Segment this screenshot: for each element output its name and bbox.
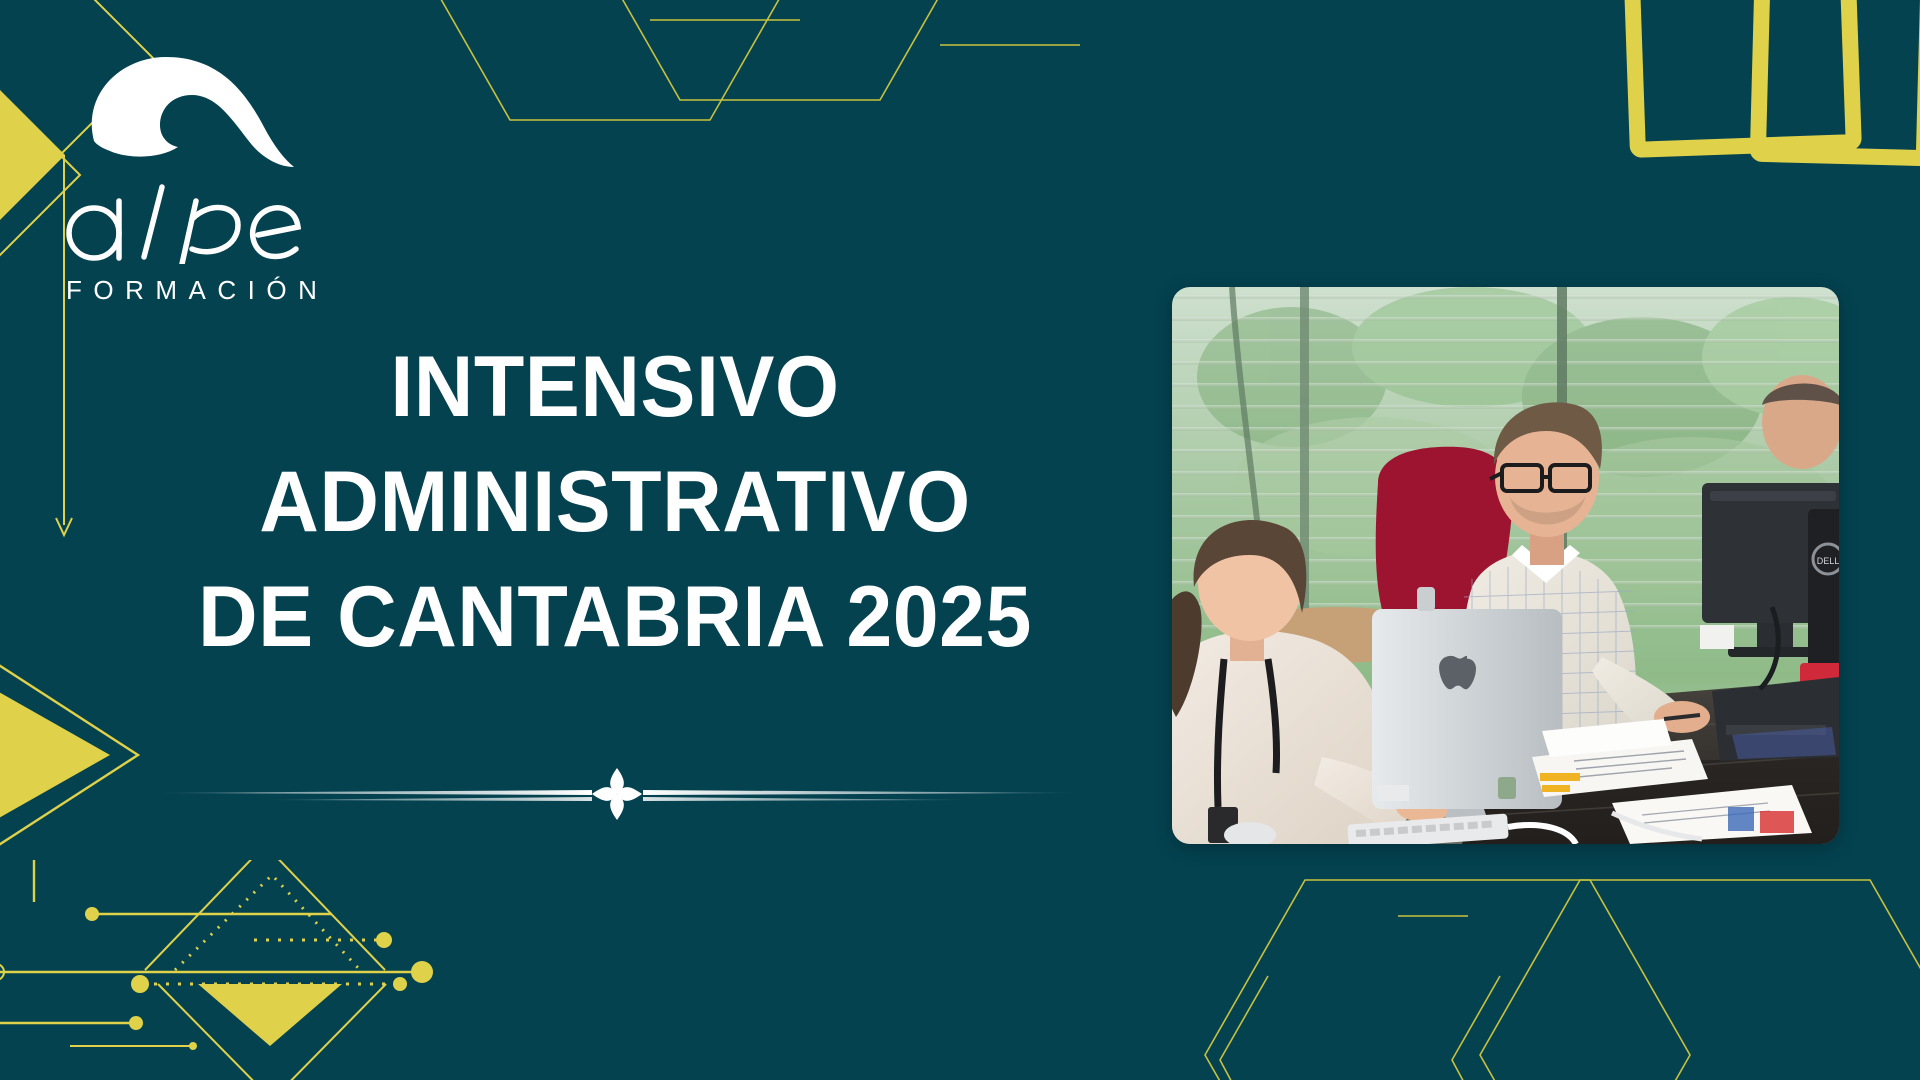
hexagon-outline-2 xyxy=(1480,880,1920,1080)
photo-illustration: DELL xyxy=(1172,287,1839,844)
chevron-line-2 xyxy=(1452,976,1500,1080)
divider-line-right-2 xyxy=(643,797,975,801)
apple-logo xyxy=(1439,656,1476,689)
filled-triangle xyxy=(0,670,110,840)
logo-wordmark xyxy=(60,179,305,264)
hero-photo: DELL xyxy=(1172,287,1839,844)
filled-diamond xyxy=(0,40,65,270)
dotted-triangle xyxy=(175,875,360,970)
logo-tagline: FORMACIÓN xyxy=(66,275,320,306)
divider-line-left xyxy=(150,790,592,795)
deco-bottom-right-hexagons xyxy=(1190,860,1920,1080)
banner-canvas: FORMACIÓN INTENSIVO ADMINISTRATIVO DE CA… xyxy=(0,0,1920,1080)
dot-dotted-end xyxy=(376,932,392,948)
deco-top-center-hexagons xyxy=(380,0,1080,250)
arrow-head xyxy=(56,518,72,535)
wave-swoosh-mark xyxy=(88,55,303,170)
square-outline-2 xyxy=(1758,0,1920,158)
inverted-triangle-outline xyxy=(158,984,386,1080)
divider-line-right xyxy=(643,790,1085,795)
imac-monitor xyxy=(1372,587,1562,839)
small-sticker xyxy=(1498,777,1516,799)
dot-upper xyxy=(85,907,99,921)
dell-logo-text: DELL xyxy=(1817,556,1839,566)
circle-outline xyxy=(0,964,4,980)
decorative-divider xyxy=(140,766,1095,822)
monitor-label xyxy=(1700,625,1734,649)
dot-low-2 xyxy=(189,1042,197,1050)
deco-bottom-left xyxy=(0,860,550,1080)
dot-l xyxy=(131,975,149,993)
title-line-2: ADMINISTRATIVO xyxy=(130,445,1100,560)
divider-ornament xyxy=(592,768,642,820)
triangle-outline xyxy=(145,860,385,970)
dot-big xyxy=(411,961,433,983)
imac-sticker xyxy=(1377,785,1409,801)
logo[interactable]: FORMACIÓN xyxy=(60,55,320,295)
hexagon-outline-2 xyxy=(580,0,980,100)
hexagon-outline xyxy=(1205,880,1690,1080)
dot-low-1 xyxy=(129,1016,143,1030)
chevron-line xyxy=(1220,976,1268,1080)
page-title: INTENSIVO ADMINISTRATIVO DE CANTABRIA 20… xyxy=(110,330,1120,676)
inverted-filled-triangle xyxy=(198,984,342,1046)
deco-top-right-squares xyxy=(1612,0,1920,230)
divider-line-left-2 xyxy=(260,797,592,801)
dot-r xyxy=(393,977,407,991)
title-line-1: INTENSIVO xyxy=(130,330,1100,445)
square-outline-1 xyxy=(1630,0,1853,150)
title-line-3: DE CANTABRIA 2025 xyxy=(130,560,1100,675)
hexagon-outline xyxy=(410,0,810,120)
